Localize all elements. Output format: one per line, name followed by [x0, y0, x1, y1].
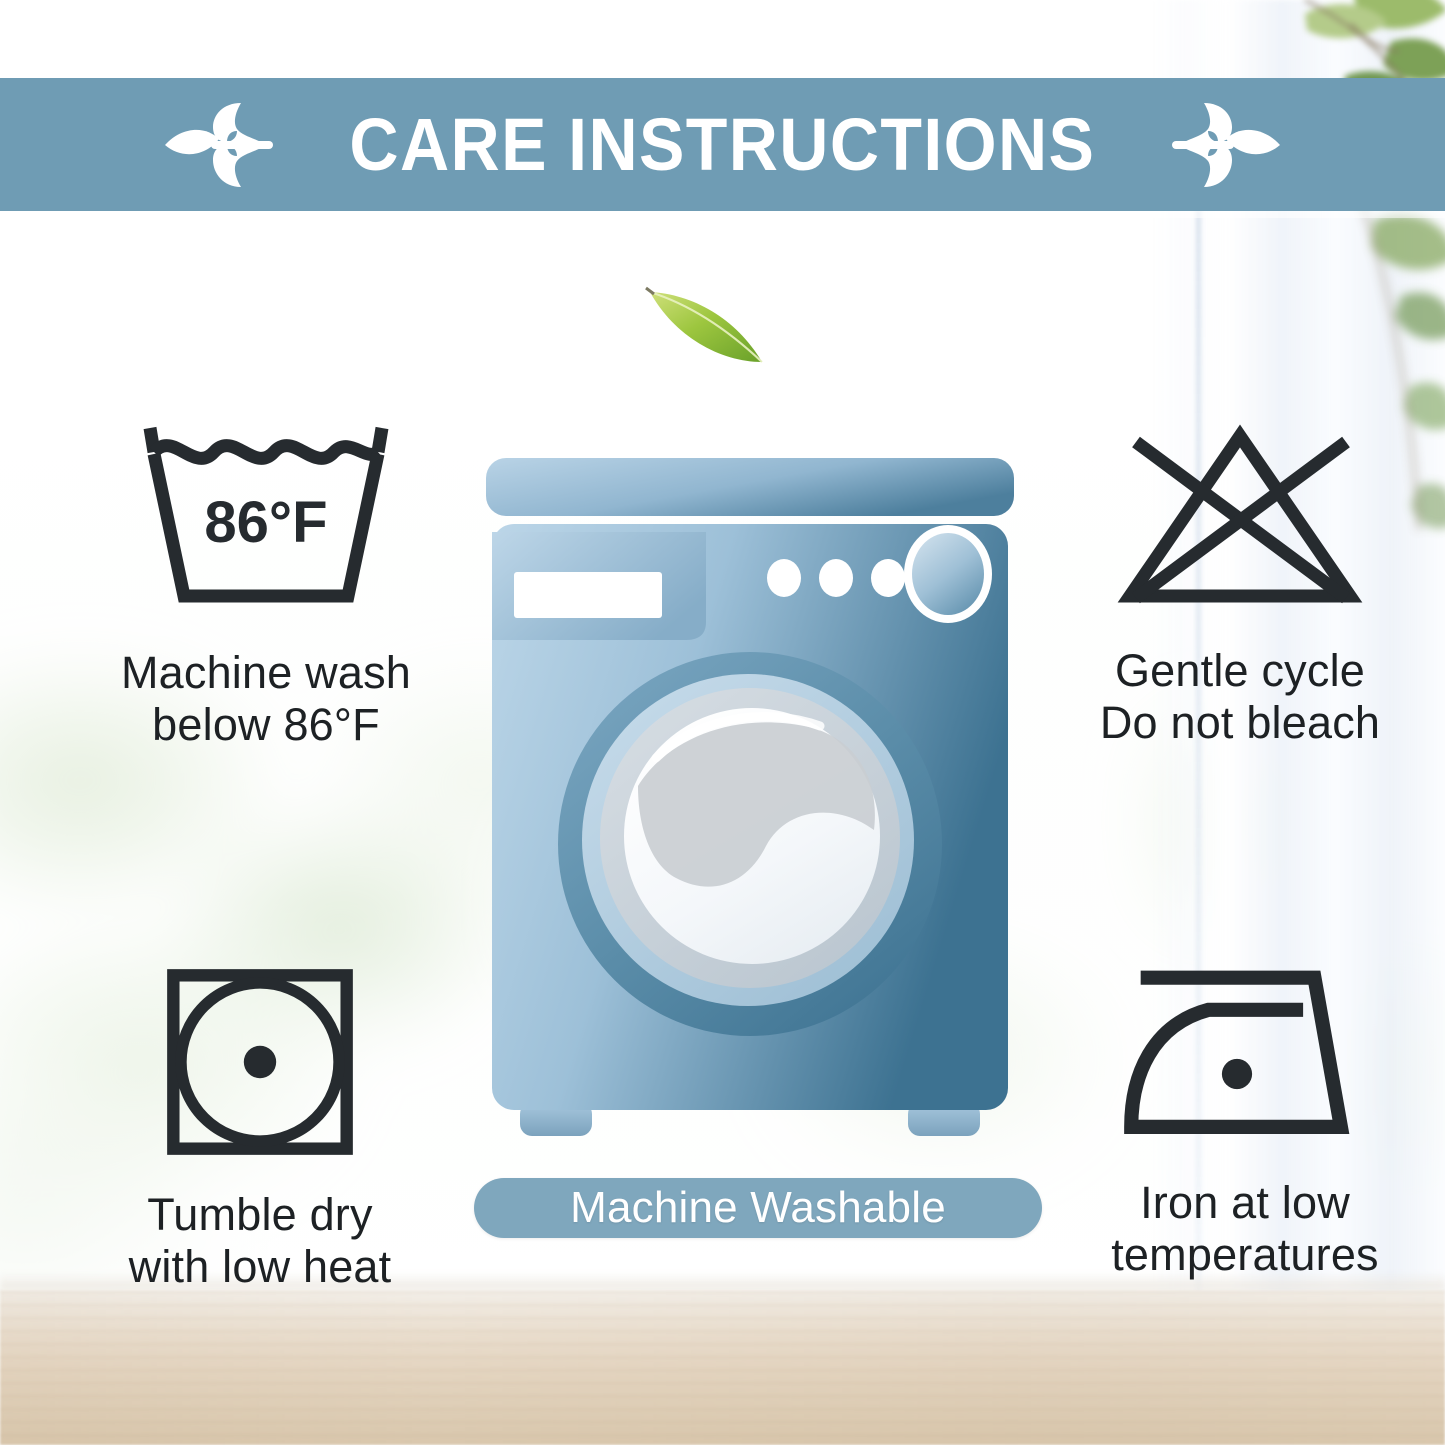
care-symbol-machine-wash: 86°F Machine wash below 86°F [56, 418, 476, 751]
floating-leaf-icon [640, 270, 780, 380]
fleur-de-lis-icon-right [1162, 97, 1282, 193]
machine-washable-badge-label: Machine Washable [570, 1186, 946, 1230]
iron-heat-dot [1221, 1059, 1251, 1089]
care-symbol-caption: Gentle cycle Do not bleach [1100, 645, 1380, 749]
tumble-dry-heat-dot [244, 1046, 276, 1078]
machine-washable-badge: Machine Washable [474, 1178, 1042, 1238]
header-banner: CARE INSTRUCTIONS [0, 78, 1445, 211]
care-symbol-tumble-dry: Tumble dry with low heat [60, 962, 460, 1293]
machine-top-lid [486, 458, 1014, 516]
iron-low-temperature-icon [1118, 962, 1373, 1157]
care-symbol-caption: Iron at low temperatures [1111, 1177, 1379, 1281]
washing-machine-illustration [470, 440, 1030, 1140]
fleur-de-lis-icon-left [163, 97, 283, 193]
wash-temperature-label: 86°F [204, 490, 327, 555]
care-symbol-caption: Machine wash below 86°F [121, 647, 411, 751]
care-symbol-iron-low: Iron at low temperatures [1040, 962, 1445, 1281]
do-not-bleach-triangle-icon [1110, 418, 1370, 623]
care-instructions-infographic: CARE INSTRUCTIONS [0, 0, 1445, 1445]
wash-tub-icon: 86°F [136, 418, 396, 623]
banner-underline [0, 211, 1445, 218]
tumble-dry-low-icon [160, 962, 360, 1167]
machine-door [558, 652, 942, 1036]
wooden-table-grain [0, 1290, 1445, 1445]
detergent-drawer [492, 532, 706, 640]
page-title: CARE INSTRUCTIONS [350, 108, 1096, 182]
indicator-lights [767, 559, 905, 597]
care-symbol-caption: Tumble dry with low heat [129, 1189, 392, 1293]
care-symbol-do-not-bleach: Gentle cycle Do not bleach [1030, 418, 1445, 749]
control-dial-knob [904, 525, 992, 623]
